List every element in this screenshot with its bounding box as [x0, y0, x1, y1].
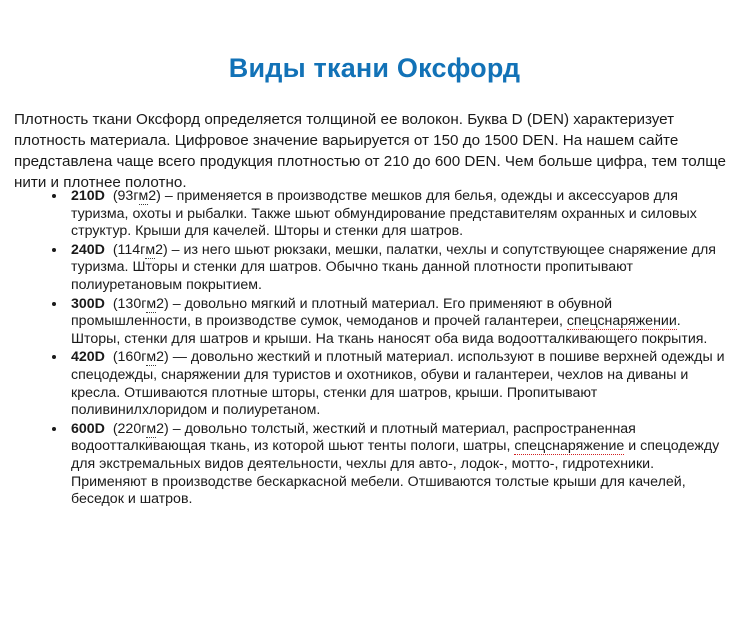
- density-label: 420D: [71, 349, 105, 365]
- list-item-text: 210D (93гм2) – применяется в производств…: [71, 188, 729, 241]
- gsm-weight: (114гм2): [113, 242, 168, 259]
- list-item: 210D (93гм2) – применяется в производств…: [0, 188, 749, 241]
- spellcheck-underlined-text: м: [146, 349, 156, 366]
- bullet-dot-icon: [52, 427, 56, 431]
- gsm-weight: (160гм2): [113, 349, 169, 366]
- list-item-text: 240D (114гм2) – из него шьют рюкзаки, ме…: [71, 242, 729, 295]
- density-label: 240D: [71, 242, 105, 258]
- gsm-weight: (130гм2): [113, 296, 169, 313]
- list-item: 240D (114гм2) – из него шьют рюкзаки, ме…: [0, 242, 749, 295]
- intro-paragraph: Плотность ткани Оксфорд определяется тол…: [14, 109, 730, 193]
- spellcheck-underlined-text: м: [146, 421, 156, 438]
- fabric-density-list: 210D (93гм2) – применяется в производств…: [0, 188, 749, 510]
- spellcheck-underlined-text: м: [139, 188, 149, 205]
- spellcheck-underlined-text: м: [146, 296, 156, 313]
- bullet-dot-icon: [52, 302, 56, 306]
- spellcheck-error-word: спецснаряжении: [567, 313, 677, 330]
- list-item: 420D (160гм2) — довольно жесткий и плотн…: [0, 349, 749, 419]
- list-item-text: 420D (160гм2) — довольно жесткий и плотн…: [71, 349, 729, 419]
- document-page: Виды ткани Оксфорд Плотность ткани Оксфо…: [0, 0, 749, 637]
- gsm-weight: (93гм2): [113, 188, 161, 205]
- list-item-text: 300D (130гм2) – довольно мягкий и плотны…: [71, 296, 729, 349]
- list-item: 600D (220гм2) – довольно толстый, жестки…: [0, 421, 749, 509]
- density-label: 210D: [71, 188, 105, 204]
- bullet-dot-icon: [52, 194, 56, 198]
- spellcheck-underlined-text: м: [145, 242, 155, 259]
- list-item-text: 600D (220гм2) – довольно толстый, жестки…: [71, 421, 729, 509]
- gsm-weight: (220гм2): [113, 421, 169, 438]
- page-title: Виды ткани Оксфорд: [0, 54, 749, 84]
- bullet-dot-icon: [52, 248, 56, 252]
- bullet-dot-icon: [52, 355, 56, 359]
- density-label: 600D: [71, 421, 105, 437]
- spellcheck-error-word: спецснаряжение: [514, 438, 624, 455]
- list-item: 300D (130гм2) – довольно мягкий и плотны…: [0, 296, 749, 349]
- density-label: 300D: [71, 296, 105, 312]
